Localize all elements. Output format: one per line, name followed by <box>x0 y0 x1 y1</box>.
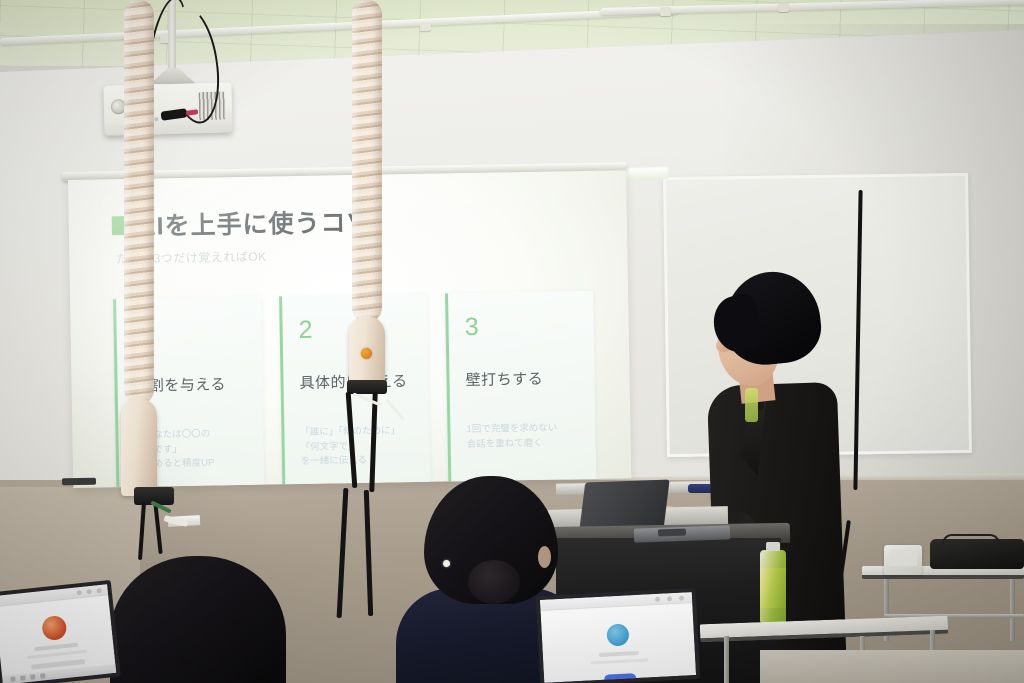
remote-control <box>62 478 96 486</box>
classroom-presentation-photo: AIを上手に使うコツ たった3つだけ覚えればOK 1 役割を与える 「あなたは〇… <box>0 0 1024 683</box>
browser-menu-icon[interactable] <box>679 595 684 600</box>
projector-led-icon <box>154 117 158 121</box>
bottle-label <box>760 568 786 608</box>
taskbar-icon[interactable] <box>30 674 35 679</box>
card-number: 3 <box>465 313 581 340</box>
site-logo-icon <box>41 615 67 641</box>
audience-laptop-center[interactable] <box>536 588 701 683</box>
browser-menu-icon[interactable] <box>96 588 101 593</box>
laptop-screen[interactable] <box>536 588 701 683</box>
hair-bun <box>468 560 520 604</box>
table-leg <box>724 636 729 683</box>
audience-member-left <box>110 556 286 683</box>
background-bottle <box>745 388 758 422</box>
taskbar-icon[interactable] <box>10 676 15 681</box>
audience-head <box>110 556 286 683</box>
earring-icon <box>443 560 450 567</box>
hanging-mic-cord-center <box>352 0 382 322</box>
slide-title: AIを上手に使うコツ <box>137 203 373 243</box>
card-body: 「誰に」「何のために」「何文字で」を一緒に伝える <box>300 424 416 469</box>
mic-indicator-icon <box>361 348 372 359</box>
laptop-screen[interactable] <box>0 580 121 683</box>
hanging-mic-cord-left <box>124 0 154 404</box>
taskbar-icon[interactable] <box>20 675 25 680</box>
white-desk-device <box>884 545 922 575</box>
card-heading: 壁打ちする <box>465 367 581 390</box>
bag-strap <box>942 534 1000 544</box>
floor <box>760 650 1024 683</box>
taskbar-icon[interactable] <box>40 673 45 678</box>
presenter-laptop-trackpad <box>658 529 686 537</box>
audience-laptop-left[interactable] <box>0 580 121 683</box>
bottle-cap <box>766 542 780 551</box>
ear <box>538 546 551 568</box>
page-text-line <box>599 651 639 657</box>
browser-profile-icon[interactable] <box>667 596 672 601</box>
page-text-line <box>27 650 87 659</box>
rail-clip <box>660 7 671 16</box>
browser-extension-icon[interactable] <box>655 597 660 602</box>
table-leg <box>1010 579 1015 641</box>
rail-clip <box>420 22 431 31</box>
page-text-line <box>590 658 648 664</box>
card-body: 1回で完璧を求めない会話を重ねて磨く <box>466 421 582 452</box>
page-text-line <box>34 643 78 652</box>
submit-button[interactable] <box>604 673 636 683</box>
hanging-microphone-left <box>121 398 157 496</box>
site-logo-icon <box>606 623 629 646</box>
browser-profile-icon[interactable] <box>86 589 91 594</box>
rail-clip <box>778 3 789 12</box>
slide-card: 3 壁打ちする 1回で完璧を求めない会話を重ねて磨く <box>445 291 597 488</box>
browser-toolbar[interactable] <box>540 592 692 611</box>
browser-extension-icon[interactable] <box>77 590 82 595</box>
green-tea-bottle <box>760 542 786 626</box>
